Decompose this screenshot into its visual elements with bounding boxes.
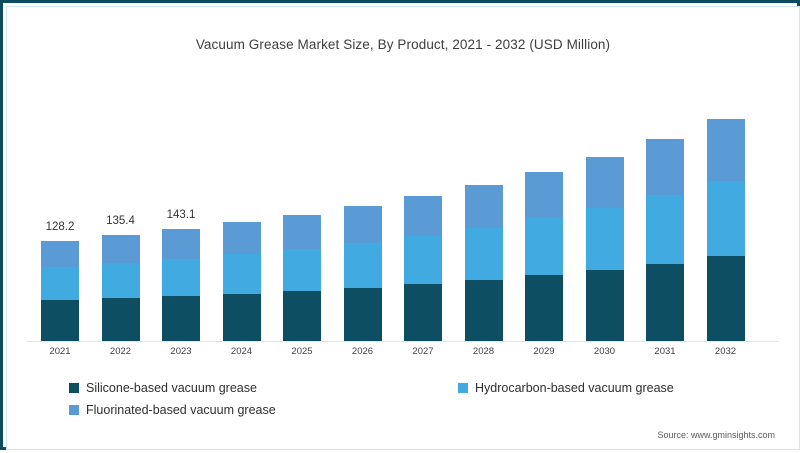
bar-2028[interactable] [465,185,503,341]
bar-2029[interactable] [525,172,563,341]
axis-baseline [27,341,779,342]
legend-label-fluorinated: Fluorinated-based vacuum grease [86,403,276,417]
value-label-2021: 128.2 [25,221,95,233]
bar-segment-silicone-2032 [707,256,745,341]
bar-segment-silicone-2021 [41,300,79,341]
legend-item-silicone[interactable]: Silicone-based vacuum grease [69,381,257,395]
bar-segment-fluorinated-2022 [102,235,140,263]
bar-2022[interactable] [102,235,140,341]
bar-segment-hydrocarbon-2021 [41,267,79,300]
chart-legend: Silicone-based vacuum grease Hydrocarbon… [3,379,800,425]
bar-segment-fluorinated-2028 [465,185,503,228]
legend-swatch-hydrocarbon [458,383,468,393]
bar-segment-hydrocarbon-2025 [283,249,321,291]
bar-segment-fluorinated-2032 [707,119,745,181]
bar-segment-silicone-2022 [102,298,140,341]
bar-segment-fluorinated-2026 [344,206,382,242]
value-label-2023: 143.1 [146,209,216,221]
bar-segment-fluorinated-2031 [646,139,684,195]
bar-segment-fluorinated-2021 [41,241,79,268]
bar-segment-silicone-2025 [283,291,321,341]
bar-segment-fluorinated-2024 [223,222,261,254]
bar-segment-hydrocarbon-2022 [102,263,140,298]
bar-2023[interactable] [162,229,200,341]
bar-segment-silicone-2026 [344,288,382,341]
bar-segment-hydrocarbon-2023 [162,259,200,296]
bar-segment-hydrocarbon-2031 [646,195,684,263]
bar-segment-hydrocarbon-2027 [404,236,442,285]
bar-segment-silicone-2024 [223,294,261,341]
bar-2025[interactable] [283,215,321,341]
bar-segment-silicone-2030 [586,270,624,341]
bar-2032[interactable] [707,119,745,341]
bar-2031[interactable] [646,139,684,341]
x-axis-label-2023: 2023 [151,346,211,357]
x-axis-label-2024: 2024 [212,346,272,357]
bar-segment-silicone-2031 [646,264,684,341]
bar-segment-hydrocarbon-2024 [223,254,261,293]
x-axis-label-2022: 2022 [91,346,151,357]
bar-2027[interactable] [404,196,442,341]
chart-frame: Vacuum Grease Market Size, By Product, 2… [0,0,800,450]
bar-2026[interactable] [344,206,382,341]
bar-segment-fluorinated-2027 [404,196,442,235]
bar-segment-hydrocarbon-2028 [465,228,503,280]
x-axis-label-2028: 2028 [454,346,514,357]
bar-2024[interactable] [223,222,261,341]
x-axis-label-2031: 2031 [635,346,695,357]
legend-swatch-fluorinated [69,405,79,415]
value-label-2022: 135.4 [86,215,156,227]
x-axis-label-2027: 2027 [393,346,453,357]
x-axis-label-2025: 2025 [272,346,332,357]
bar-segment-hydrocarbon-2029 [525,218,563,275]
source-attribution: Source: www.gminsights.com [657,430,775,440]
bar-segment-fluorinated-2025 [283,215,321,249]
bar-segment-fluorinated-2029 [525,172,563,218]
x-axis-label-2030: 2030 [575,346,635,357]
bar-segment-fluorinated-2023 [162,229,200,259]
x-axis-label-2021: 2021 [30,346,90,357]
legend-item-hydrocarbon[interactable]: Hydrocarbon-based vacuum grease [458,381,674,395]
bar-segment-hydrocarbon-2032 [707,181,745,256]
bar-segment-silicone-2028 [465,280,503,341]
bar-segment-silicone-2023 [162,296,200,341]
bar-segment-hydrocarbon-2026 [344,243,382,288]
bar-2030[interactable] [586,157,624,341]
legend-item-fluorinated[interactable]: Fluorinated-based vacuum grease [69,403,276,417]
legend-label-silicone: Silicone-based vacuum grease [86,381,257,395]
legend-swatch-silicone [69,383,79,393]
bar-segment-hydrocarbon-2030 [586,208,624,270]
x-axis-label-2026: 2026 [333,346,393,357]
x-axis-label-2032: 2032 [696,346,756,357]
bar-segment-silicone-2027 [404,284,442,341]
x-axis-label-2029: 2029 [514,346,574,357]
legend-label-hydrocarbon: Hydrocarbon-based vacuum grease [475,381,674,395]
bar-segment-fluorinated-2030 [586,157,624,208]
bar-segment-silicone-2029 [525,275,563,341]
bar-2021[interactable] [41,241,79,341]
